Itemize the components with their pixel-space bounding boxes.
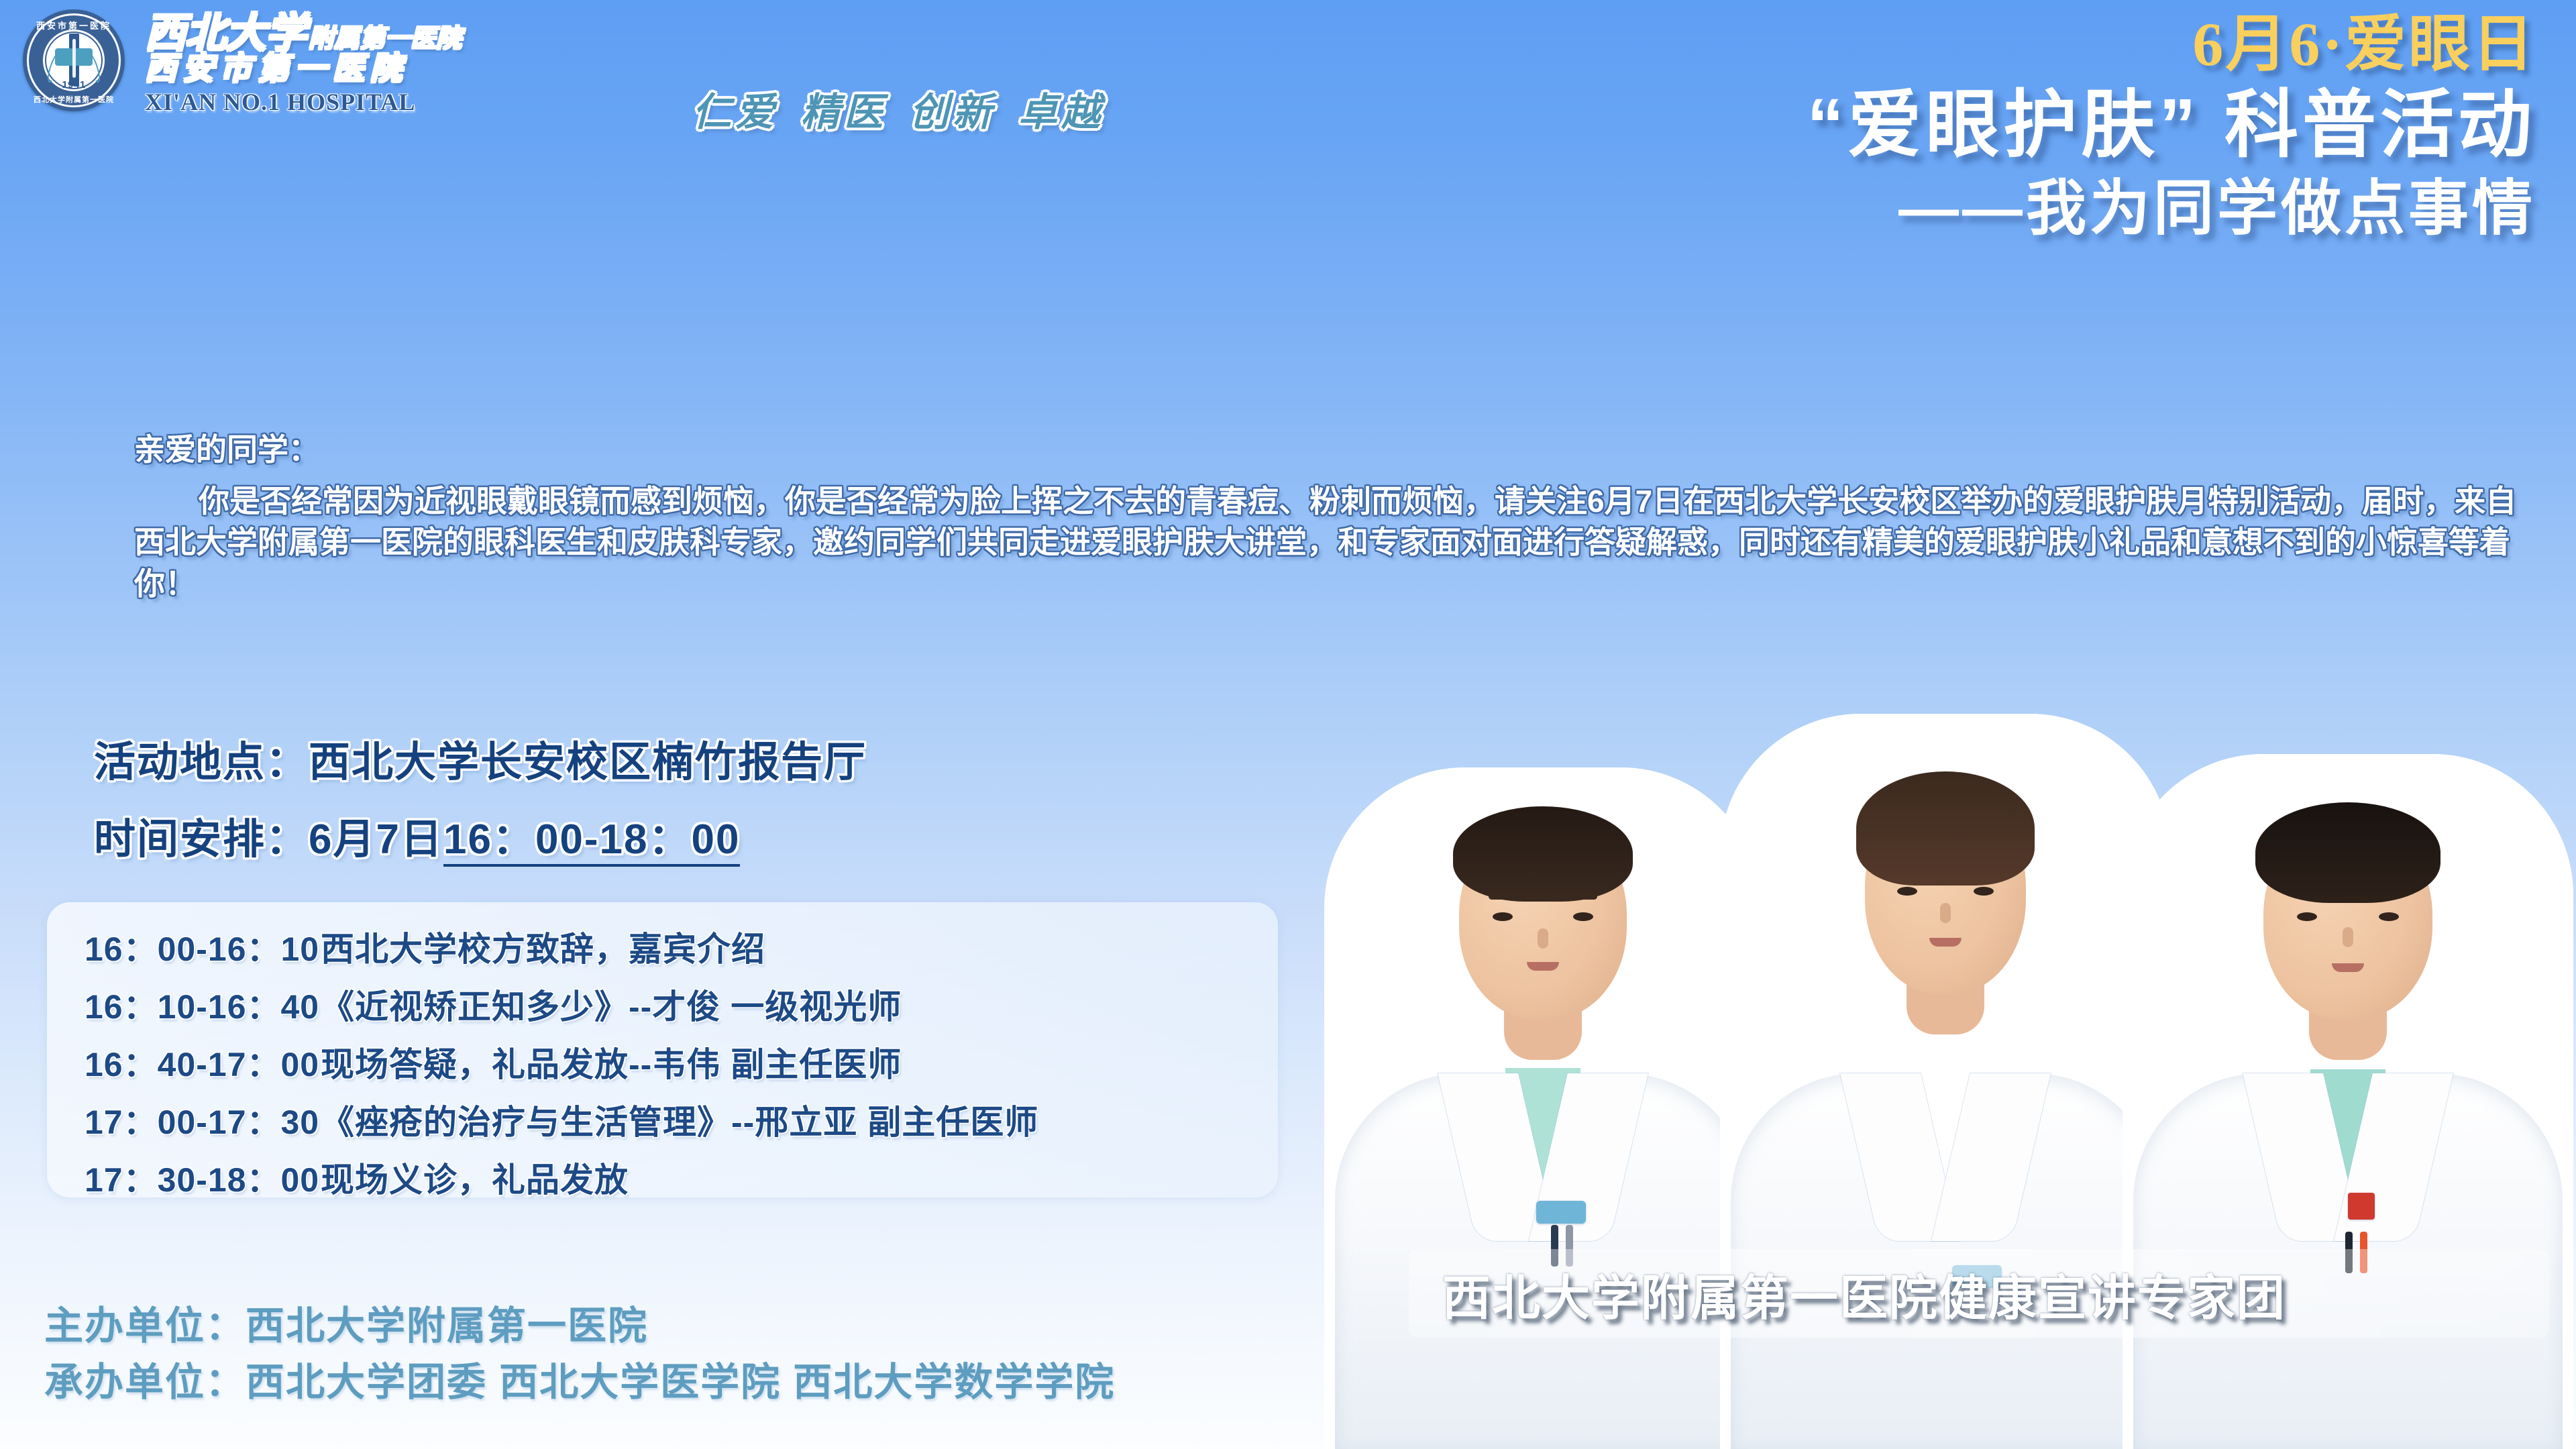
schedule-description: 现场答疑，礼品发放--韦伟 副主任医师 xyxy=(321,1038,902,1091)
doctor-eye-right xyxy=(1573,912,1593,921)
expert-team-label: 西北大学附属第一医院健康宣讲专家团 xyxy=(1409,1258,2286,1329)
doctor-nose xyxy=(1940,903,1951,923)
emblem-founding-year: 1941 xyxy=(23,79,125,91)
doctor-eye-right xyxy=(2379,912,2399,921)
hospital-emblem-icon: 西安市第一医院 XI'AN NO.1 HOSPITAL 1941 西北大学附属第… xyxy=(23,9,125,111)
time-line: 时间安排：6月7日16：00-18：00 xyxy=(94,805,740,865)
doctor-mouth xyxy=(1929,938,1962,947)
schedule-time: 17：00-17：30 xyxy=(85,1095,321,1149)
schedule-row: 17：00-17：30 《痤疮的治疗与生活管理》--邢立亚 副主任医师 xyxy=(47,1095,1278,1149)
schedule-panel: 16：00-16：10 西北大学校方致辞，嘉宾介绍 16：10-16：40 《近… xyxy=(47,902,1278,1197)
doctor-hair xyxy=(2255,802,2440,903)
schedule-description: 现场义诊，礼品发放 xyxy=(321,1153,629,1207)
time-date: 6月7日 xyxy=(309,816,443,863)
poster-canvas: 西安市第一医院 XI'AN NO.1 HOSPITAL 1941 西北大学附属第… xyxy=(0,0,2576,1449)
hospital-name-row1: 西北大学 附属第一医院 xyxy=(145,15,462,54)
doctor-portrait-left xyxy=(1335,778,1751,1449)
campaign-subtitle: ——我为同学做点事情 xyxy=(1807,171,2536,247)
venue-label: 活动地点： xyxy=(94,739,309,786)
slogan-word-4: 卓越 xyxy=(1018,91,1104,134)
schedule-description: 《痤疮的治疗与生活管理》--邢立亚 副主任医师 xyxy=(321,1095,1038,1149)
eye-care-day-label: 6月6·爱眼日 xyxy=(1807,12,2536,77)
doctor-eye-left xyxy=(2297,912,2317,921)
hospital-name-english: XI'AN NO.1 HOSPITAL xyxy=(145,88,462,116)
slogan-word-2: 精医 xyxy=(801,91,887,134)
schedule-time: 16：10-16：40 xyxy=(85,980,321,1034)
schedule-row: 16：40-17：00 现场答疑，礼品发放--韦伟 副主任医师 xyxy=(47,1038,1278,1091)
venue-value: 西北大学长安校区楠竹报告厅 xyxy=(309,739,867,786)
schedule-description: 《近视矫正知多少》--才俊 一级视光师 xyxy=(321,980,902,1034)
doctor-nose xyxy=(2343,927,2353,947)
doctor-nose xyxy=(1538,928,1548,949)
campaign-main-title: “爱眼护肤” 科普活动 xyxy=(1807,81,2536,170)
affiliated-hospital-name: 附属第一医院 xyxy=(309,26,462,54)
schedule-time: 17：30-18：00 xyxy=(85,1153,321,1207)
doctor-id-badge xyxy=(1536,1201,1586,1224)
doctor-mouth xyxy=(2332,963,2364,972)
organizer-host-line: 主办单位：西北大学附属第一医院 xyxy=(44,1298,1115,1354)
schedule-row: 16：00-16：10 西北大学校方致辞，嘉宾介绍 xyxy=(47,922,1278,976)
schedule-row: 17：30-18：00 现场义诊，礼品发放 xyxy=(47,1153,1278,1207)
doctor-party-emblem-badge xyxy=(2348,1193,2375,1220)
letter-greeting: 亲爱的同学： xyxy=(134,429,2522,470)
hospital-name-row2: 西安市第一医院 xyxy=(145,53,462,87)
schedule-description: 西北大学校方致辞，嘉宾介绍 xyxy=(321,922,765,976)
doctor-portrait-center xyxy=(1731,724,2160,1449)
doctor-eye-right xyxy=(1974,887,1994,896)
doctor-eye-left xyxy=(1493,912,1513,921)
time-label: 时间安排： xyxy=(94,816,309,863)
hospital-name-block: 西北大学 附属第一医院 西安市第一医院 XI'AN NO.1 HOSPITAL xyxy=(145,9,462,116)
schedule-row: 16：10-16：40 《近视矫正知多少》--才俊 一级视光师 xyxy=(47,980,1278,1034)
doctor-hair xyxy=(1856,771,2035,885)
doctor-eye-left xyxy=(1897,887,1917,896)
slogan-word-3: 创新 xyxy=(910,91,996,134)
time-range: 16：00-18：00 xyxy=(443,816,741,867)
hospital-slogan: 仁爱精医创新卓越 xyxy=(692,80,1104,137)
doctor-portrait-right xyxy=(2133,765,2563,1449)
doctor-mouth xyxy=(1527,962,1559,971)
organizer-block: 主办单位：西北大学附属第一医院 承办单位：西北大学团委 西北大学医学院 西北大学… xyxy=(44,1298,1115,1411)
university-name: 西北大学 xyxy=(145,15,306,54)
schedule-time: 16：40-17：00 xyxy=(85,1038,321,1091)
schedule-time: 16：00-16：10 xyxy=(85,922,321,976)
emblem-rod-of-asclepius-icon xyxy=(72,39,76,78)
letter-body: 亲爱的同学： 你是否经常因为近视眼戴眼镜而感到烦恼，你是否经常为脸上挥之不去的青… xyxy=(134,429,2522,604)
expert-team-banner: 西北大学附属第一医院健康宣讲专家团 xyxy=(1409,1249,2549,1338)
hospital-branding: 西安市第一医院 XI'AN NO.1 HOSPITAL 1941 西北大学附属第… xyxy=(23,9,462,116)
venue-line: 活动地点：西北大学长安校区楠竹报告厅 xyxy=(94,728,867,788)
doctor-hair xyxy=(1453,806,1633,902)
letter-paragraph: 你是否经常因为近视眼戴眼镜而感到烦恼，你是否经常为脸上挥之不去的青春痘、粉刺而烦… xyxy=(134,481,2522,604)
organizer-coorganizer-line: 承办单位：西北大学团委 西北大学医学院 西北大学数学学院 xyxy=(44,1354,1115,1411)
slogan-word-1: 仁爱 xyxy=(692,91,778,134)
emblem-arc-bottom-text: 西北大学附属第一医院 xyxy=(23,94,125,105)
campaign-title-block: 6月6·爱眼日 “爱眼护肤” 科普活动 ——我为同学做点事情 xyxy=(1807,12,2536,246)
